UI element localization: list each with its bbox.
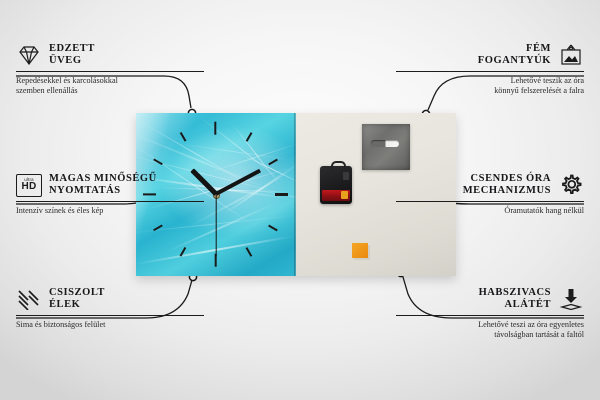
callout-title: CSENDES ÓRA MECHANIZMUS: [463, 173, 551, 198]
diamond-icon: [16, 42, 42, 68]
callout-subtitle: Óramutatók hang nélkül: [396, 206, 584, 216]
callout-rule: [16, 201, 204, 202]
callout-rule: [16, 315, 204, 316]
callout-title: CSISZOLT ÉLEK: [49, 287, 105, 312]
callout-rule: [396, 71, 584, 72]
battery: [322, 190, 350, 201]
battery-terminal: [341, 191, 348, 199]
clock-tick: [268, 224, 278, 231]
callout-rule: [396, 201, 584, 202]
clock-tick: [245, 133, 252, 143]
wall-mount-icon: [558, 42, 584, 68]
callout-rule: [396, 315, 584, 316]
mechanism-hook: [331, 161, 346, 171]
ultra-hd-icon-large-text: HD: [21, 182, 36, 192]
callout-rule: [16, 71, 204, 72]
infographic-canvas: EDZETT ÜVEG Repedésekkel és karcolásokka…: [0, 0, 600, 400]
callout-subtitle: Lehetővé teszik az óra könnyű felszerelé…: [396, 76, 584, 96]
callout-subtitle: Intenzív színek és éles kép: [16, 206, 204, 216]
gear-icon: [558, 172, 584, 198]
callout-hd-print[interactable]: ultra HD MAGAS MINŐSÉGŰ NYOMTATÁS Intenz…: [16, 172, 204, 216]
callout-subtitle: Lehetővé teszi az óra egyenletes távolsá…: [396, 320, 584, 340]
metal-hanger: [362, 124, 410, 170]
callout-title: HABSZIVACS ALÁTÉT: [479, 287, 551, 312]
callout-metal-handles[interactable]: FÉM FOGANTYÚK Lehetővé teszik az óra kön…: [396, 42, 584, 96]
clock-tick: [275, 193, 288, 195]
foam-pad: [352, 243, 368, 258]
callout-polished-edges[interactable]: CSISZOLT ÉLEK Sima és biztonságos felüle…: [16, 286, 204, 330]
callout-title: MAGAS MINŐSÉGŰ NYOMTATÁS: [49, 173, 157, 198]
callout-silent-mechanism[interactable]: CSENDES ÓRA MECHANIZMUS Óramutatók hang …: [396, 172, 584, 216]
clock-tick: [245, 247, 252, 257]
clock-tick: [214, 122, 216, 135]
clock-tick: [154, 158, 164, 165]
callout-subtitle: Repedésekkel és karcolásokkal szemben el…: [16, 76, 204, 96]
polished-edges-icon: [16, 286, 42, 312]
callout-title: EDZETT ÜVEG: [49, 43, 95, 68]
clock-tick: [179, 133, 186, 143]
second-hand: [215, 194, 216, 256]
callout-title: FÉM FOGANTYÚK: [478, 43, 551, 68]
foam-pad-icon: [558, 286, 584, 312]
callout-foam-pad[interactable]: HABSZIVACS ALÁTÉT Lehetővé teszi az óra …: [396, 286, 584, 340]
hanger-slot: [371, 140, 399, 147]
callout-tempered-glass[interactable]: EDZETT ÜVEG Repedésekkel és karcolásokka…: [16, 42, 204, 96]
ultra-hd-icon: ultra HD: [16, 172, 42, 198]
clock-tick: [268, 158, 278, 165]
mechanism-knob: [343, 172, 349, 180]
clock-mechanism: [320, 166, 352, 204]
callout-subtitle: Sima és biztonságos felület: [16, 320, 204, 330]
